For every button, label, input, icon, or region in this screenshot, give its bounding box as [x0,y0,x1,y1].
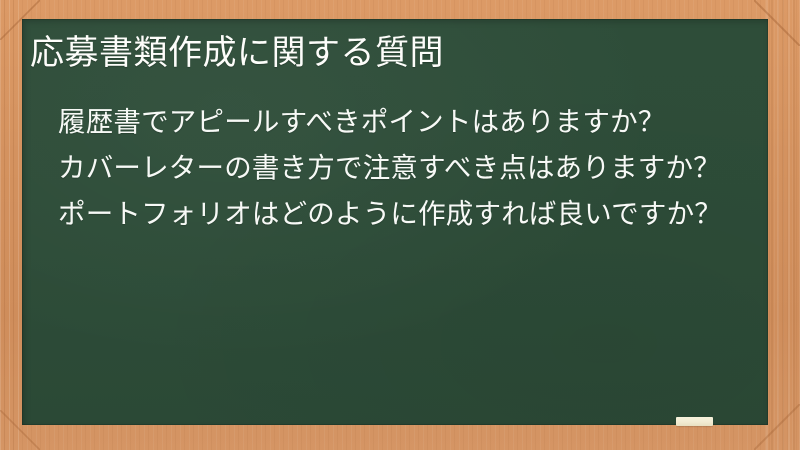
frame-grain-left [0,0,22,450]
question-item: 履歴書でアピールすべきポイントはありますか？ [58,101,748,144]
question-item: ポートフォリオはどのように作成すれば良いですか？ [58,193,748,236]
board-title: 応募書類作成に関する質問 [30,31,760,75]
question-list: 履歴書でアピールすべきポイントはありますか？ カバーレターの書き方で注意すべき点… [58,101,748,239]
chalkboard-frame: 応募書類作成に関する質問 履歴書でアピールすべきポイントはありますか？ カバーレ… [0,0,800,450]
frame-grain-right [766,0,800,450]
question-item: カバーレターの書き方で注意すべき点はありますか？ [58,147,748,190]
chalk-stick [676,417,713,426]
chalkboard-surface: 応募書類作成に関する質問 履歴書でアピールすべきポイントはありますか？ カバーレ… [22,19,768,425]
